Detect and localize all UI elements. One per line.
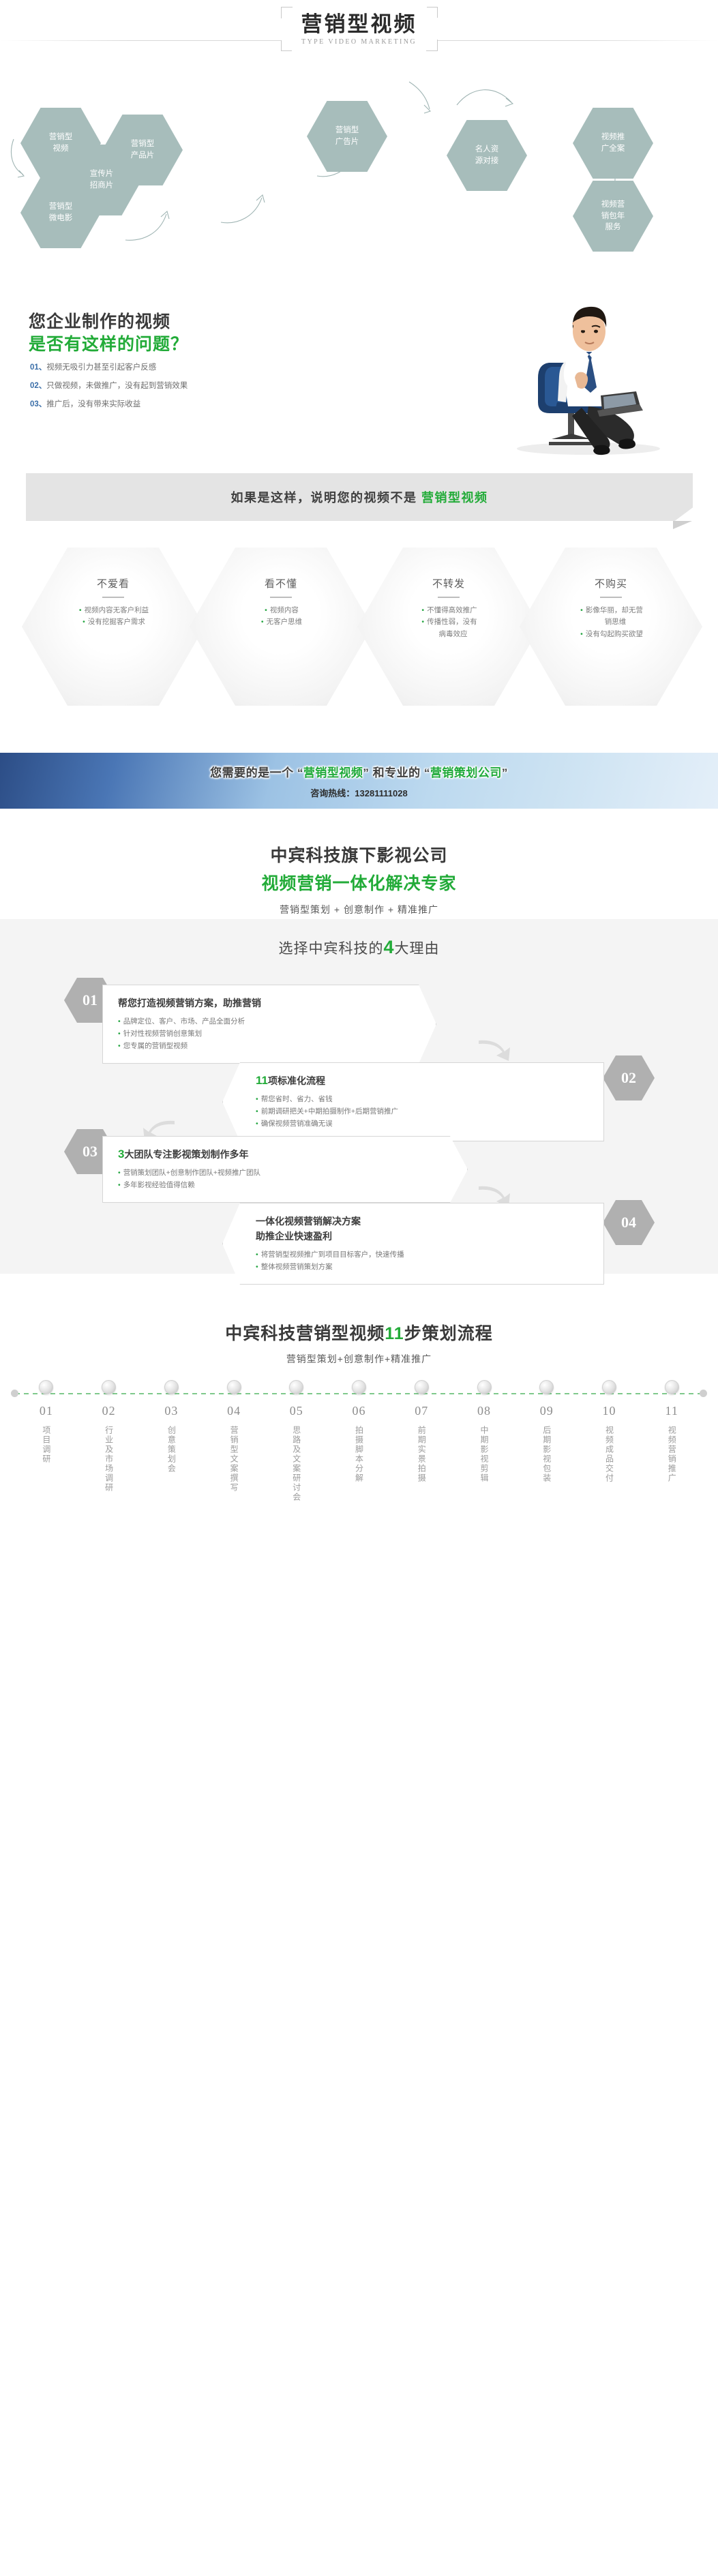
bullet-dot-icon: • xyxy=(421,618,424,626)
hex-service-0-line2: 视频 xyxy=(49,143,73,155)
step-09-label: 后期影视包装 xyxy=(541,1426,553,1483)
company-name: 中宾科技旗下影视公司 xyxy=(0,842,718,867)
cta-banner-section: 您需要的是一个 “营销型视频” 和专业的 “营销策划公司” 咨询热线：13281… xyxy=(0,745,718,830)
hex-service-7-line3: 服务 xyxy=(601,222,625,233)
reason-card-02-bullet-2: 确保视频营销准确无误 xyxy=(261,1120,333,1128)
cta-part1: 您需要的是一个 “ xyxy=(210,766,303,779)
step-10-num: 10 xyxy=(602,1404,616,1418)
hotline-text[interactable]: 咨询热线：13281111028 xyxy=(310,786,407,799)
bullet-dot-icon: • xyxy=(256,1263,258,1271)
steps-list: 01项目调研 02行业及市场调研 03创意策划会 04营销型文案撰写 05思路及… xyxy=(15,1380,703,1502)
step-item-09[interactable]: 09后期影视包装 xyxy=(515,1380,578,1502)
cta-emphasis-1: 营销型视频 xyxy=(303,766,363,779)
symptom-hex-3-bullet: •没有勾起购买欲望 xyxy=(579,629,643,640)
bullet-dot-icon: • xyxy=(256,1250,258,1259)
reason-card-01-bullet: •品牌定位、客户、市场、产品全面分析 xyxy=(118,1015,403,1028)
corner-top-right xyxy=(427,7,438,18)
bullet-dot-icon: • xyxy=(79,606,82,614)
symptom-hex-2-bullet-2: 病毒效应 xyxy=(439,630,468,638)
symptom-hex-1-bullet-1: 无客户思维 xyxy=(267,618,303,626)
reason-card-01-head: 帮您打造视频营销方案，助推营销 xyxy=(118,996,403,1010)
reason-card-03-head: 3大团队专注影视策划制作多年 xyxy=(118,1148,434,1161)
flow-arrow-2 xyxy=(124,206,179,244)
company-services: 营销型策划 + 创意制作 + 精准推广 xyxy=(0,903,718,916)
hex-service-6[interactable]: 视频推 广全案 xyxy=(573,108,653,179)
step-01-label: 项目调研 xyxy=(40,1426,53,1464)
step-dot-icon xyxy=(539,1380,554,1394)
hex-service-2-line2: 微电影 xyxy=(49,213,73,224)
step-06-num: 06 xyxy=(353,1404,366,1418)
reason-card-04-bullet: •整体视频营销策划方案 xyxy=(256,1261,588,1273)
ribbon-text-emphasis: 营销型视频 xyxy=(421,491,488,505)
flow-arrow-6 xyxy=(455,80,518,115)
bullet-dot-icon: • xyxy=(118,1181,121,1189)
step-dot-icon xyxy=(665,1380,679,1394)
hex-service-7-line1: 视频营 xyxy=(601,199,625,211)
step-item-05[interactable]: 05思路及文案研讨会 xyxy=(265,1380,328,1502)
reason-card-03-head-text: 大团队专注影视策划制作多年 xyxy=(124,1149,248,1160)
step-item-04[interactable]: 04营销型文案撰写 xyxy=(203,1380,265,1502)
hex-service-7[interactable]: 视频营 销包年 服务 xyxy=(573,181,653,252)
hex-service-4[interactable]: 营销型 广告片 xyxy=(307,101,387,172)
symptom-hex-2-bullet: •传播性弱，没有 xyxy=(420,616,477,628)
reason-card-01-bullet: •您专属的营销型视频 xyxy=(118,1040,403,1052)
reason-card-02-bullet: •帮您省时、省力、省钱 xyxy=(256,1093,588,1105)
step-dot-icon xyxy=(102,1380,116,1394)
symptom-hex-2-bullet-0: 不懂得高效推广 xyxy=(427,606,477,614)
step-11-label: 视频营销推广 xyxy=(665,1426,678,1483)
hex-service-1-line1: 宣传片 xyxy=(90,168,114,180)
symptom-hex-3-bullet-1: 销思维 xyxy=(605,618,627,626)
reason-card-02[interactable]: 11项标准化流程 •帮您省时、省力、省钱 •前期调研把关+中期拍摄制作+后期营销… xyxy=(222,1062,604,1141)
company-intro-section: 中宾科技旗下影视公司 视频营销一体化解决专家 营销型策划 + 创意制作 + 精准… xyxy=(0,830,718,919)
bullet-dot-icon: • xyxy=(256,1120,258,1128)
symptom-hex-2-bullet: •不懂得高效推广 xyxy=(420,605,477,616)
reason-card-01-bullet: •针对性视频营销创意策划 xyxy=(118,1028,403,1040)
reason-card-01-bullet-1: 针对性视频营销创意策划 xyxy=(123,1030,203,1038)
symptom-hex-3-bullet-0: 影像华丽，却无营 xyxy=(586,606,643,614)
step-03-label: 创意策划会 xyxy=(165,1426,177,1473)
reason-card-01[interactable]: 帮您打造视频营销方案，助推营销 •品牌定位、客户、市场、产品全面分析 •针对性视… xyxy=(102,985,436,1064)
reason-card-02-head-em: 11 xyxy=(256,1074,268,1087)
reason-card-03-bullet: •营销策划团队+创意制作团队+视频推广团队 xyxy=(118,1167,434,1179)
step-04-num: 04 xyxy=(227,1404,241,1418)
step-item-08[interactable]: 08中期影视剪辑 xyxy=(453,1380,515,1502)
reason-card-03-bullet: •多年影视经验值得信赖 xyxy=(118,1179,434,1191)
ribbon-fold-shadow xyxy=(673,521,692,529)
problem-item-0-text: 视频无吸引力甚至引起客户反感 xyxy=(46,363,156,372)
hex-service-0-line1: 营销型 xyxy=(49,132,73,143)
step-01-num: 01 xyxy=(40,1404,53,1418)
hex-service-4-line2: 广告片 xyxy=(335,136,359,148)
step-11-num: 11 xyxy=(665,1404,678,1418)
hex-service-5-line2: 源对接 xyxy=(475,155,499,167)
bullet-dot-icon: • xyxy=(256,1095,258,1103)
step-05-num: 05 xyxy=(290,1404,303,1418)
hex-service-7-line2: 销包年 xyxy=(601,211,625,222)
reason-card-04[interactable]: 一体化视频营销解决方案 助推企业快速盈利 •将营销型视频推广到项目目标客户，快速… xyxy=(222,1203,604,1285)
problem-item-2-text: 推广后，没有带来实际收益 xyxy=(46,400,140,408)
bullet-dot-icon: • xyxy=(118,1169,121,1177)
ribbon-section: 如果是这样，说明您的视频不是 营销型视频 xyxy=(0,462,718,541)
symptom-hex-3-bullet: •影像华丽，却无营 xyxy=(579,605,643,616)
bullet-dot-icon: • xyxy=(256,1107,258,1115)
page-subtitle-en: TYPE VIDEO MARKETING xyxy=(301,38,417,46)
step-dot-icon xyxy=(477,1380,492,1394)
symptom-hex-0-bullet-0: 视频内容无客户利益 xyxy=(85,606,149,614)
problem-item-0-num: 01、 xyxy=(30,363,46,372)
problem-item-1-text: 只做视频，未做推广，没有起到营销效果 xyxy=(46,382,188,390)
step-dot-icon xyxy=(39,1380,53,1394)
step-item-11[interactable]: 11视频营销推广 xyxy=(640,1380,703,1502)
step-item-02[interactable]: 02行业及市场调研 xyxy=(78,1380,140,1502)
hex-service-5[interactable]: 名人资 源对接 xyxy=(447,120,527,191)
bullet-dot-icon: • xyxy=(83,618,85,626)
bullet-dot-icon: • xyxy=(265,606,267,614)
step-dot-icon xyxy=(164,1380,179,1394)
hex-service-6-line2: 广全案 xyxy=(601,143,625,155)
reason-card-02-bullet-0: 帮您省时、省力、省钱 xyxy=(261,1095,333,1103)
ribbon-text-before: 如果是这样，说明您的视频不是 xyxy=(231,491,422,505)
step-02-label: 行业及市场调研 xyxy=(103,1426,115,1493)
step-dot-icon xyxy=(289,1380,303,1394)
hex-service-2-line1: 营销型 xyxy=(49,201,73,213)
problem-heading-line2: 是否有这样的问题？ xyxy=(29,331,188,355)
reason-card-04-bullet-1: 整体视频营销策划方案 xyxy=(261,1263,333,1271)
symptom-hex-0-divider xyxy=(102,597,124,598)
symptom-hex-3-bullet-2: 没有勾起购买欲望 xyxy=(586,630,643,638)
hex-service-5-line1: 名人资 xyxy=(475,144,499,155)
corner-bottom-left xyxy=(281,40,292,51)
bullet-dot-icon: • xyxy=(118,1030,121,1038)
step-dot-icon xyxy=(227,1380,241,1394)
reason-card-02-bullet: •确保视频营销准确无误 xyxy=(256,1118,588,1130)
reason-card-04-bullet-0: 将营销型视频推广到项目目标客户，快速传播 xyxy=(261,1250,404,1259)
reason-arrow-1 xyxy=(477,1036,513,1064)
businessman-photo xyxy=(486,286,691,457)
symptom-hex-0-bullet: •视频内容无客户利益 xyxy=(78,605,149,616)
marketing-video-landing-page: 营销型视频 TYPE VIDEO MARKETING xyxy=(0,0,718,1586)
symptom-hex-1-divider xyxy=(270,597,292,598)
reason-card-01-head-text: 帮您打造视频营销方案，助推营销 xyxy=(118,998,261,1008)
reason-card-03-bullet-1: 多年影视经验值得信赖 xyxy=(123,1181,195,1189)
reason-badge-02: 02 xyxy=(603,1055,655,1100)
problem-intro-section: 您企业制作的视频 是否有这样的问题？ 01、视频无吸引力甚至引起客户反感 02、… xyxy=(0,293,718,450)
reason-card-02-bullet-1: 前期调研把关+中期拍摄制作+后期营销推广 xyxy=(261,1107,398,1115)
symptom-hex-2[interactable]: 不转发 •不懂得高效推广 •传播性弱，没有 病毒效应 xyxy=(357,548,540,706)
reason-card-03-bullet-0: 营销策划团队+创意制作团队+视频推广团队 xyxy=(123,1169,260,1177)
problem-list-item: 02、只做视频，未做推广，没有起到营销效果 xyxy=(30,380,188,391)
symptom-hex-3-bullet: 销思维 xyxy=(596,616,627,628)
step-07-label: 前期实景拍摄 xyxy=(415,1426,428,1483)
symptom-hex-3[interactable]: 不购买 •影像华丽，却无营 销思维 •没有勾起购买欲望 xyxy=(520,548,702,706)
step-08-label: 中期影视剪辑 xyxy=(478,1426,490,1483)
process-steps-section: 中宾科技营销型视频11步策划流程 营销型策划+创意制作+精准推广 01项目调研 … xyxy=(0,1300,718,1586)
step-03-num: 03 xyxy=(164,1404,178,1418)
steps-subtitle: 营销型策划+创意制作+精准推广 xyxy=(0,1352,718,1366)
symptom-hex-2-divider xyxy=(438,597,460,598)
reasons-title: 选择中宾科技的4大理由 xyxy=(0,919,718,958)
step-10-label: 视频成品交付 xyxy=(603,1426,615,1483)
hex-service-3-line1: 营销型 xyxy=(131,138,155,150)
steps-title-after: 步策划流程 xyxy=(404,1324,493,1343)
symptom-hex-3-title: 不购买 xyxy=(595,576,627,590)
symptom-hex-1-bullet-0: 视频内容 xyxy=(270,606,299,614)
hex-service-1-line2: 招商片 xyxy=(90,180,114,192)
flow-arrow-3 xyxy=(220,191,274,229)
reason-card-01-bullet-2: 您专属的营销型视频 xyxy=(123,1042,188,1050)
reason-card-02-head: 11项标准化流程 xyxy=(256,1074,588,1088)
steps-title-number: 11 xyxy=(385,1324,404,1343)
cta-banner: 您需要的是一个 “营销型视频” 和专业的 “营销策划公司” 咨询热线：13281… xyxy=(0,753,718,809)
symptom-hex-2-bullet: 病毒效应 xyxy=(430,629,468,640)
reason-card-04-bullet: •将营销型视频推广到项目目标客户，快速传播 xyxy=(256,1248,588,1261)
step-07-num: 07 xyxy=(415,1404,428,1418)
reason-card-02-bullet: •前期调研把关+中期拍摄制作+后期营销推广 xyxy=(256,1105,588,1118)
page-title: 营销型视频 xyxy=(301,12,417,37)
step-item-03[interactable]: 03创意策划会 xyxy=(140,1380,203,1502)
step-08-num: 08 xyxy=(477,1404,491,1418)
symptom-hex-1-bullet: •视频内容 xyxy=(263,605,299,616)
step-item-01[interactable]: 01项目调研 xyxy=(15,1380,78,1502)
reason-card-04-head2: 助推企业快速盈利 xyxy=(256,1229,588,1243)
reasons-title-number: 4 xyxy=(383,937,394,957)
symptom-hex-row: 不爱看 •视频内容无客户利益 •没有挖掘客户需求 看不懂 •视频内容 •无客户思… xyxy=(0,541,718,718)
hex-service-6-line1: 视频推 xyxy=(601,132,625,143)
bullet-dot-icon: • xyxy=(261,618,264,626)
service-hex-cluster: 营销型 视频 宣传片 招商片 营销型 微电影 营销型 产品片 营销型 xyxy=(0,82,718,256)
hex-service-3-line2: 产品片 xyxy=(131,150,155,162)
title-frame: 营销型视频 TYPE VIDEO MARKETING xyxy=(281,7,438,51)
ribbon-text: 如果是这样，说明您的视频不是 营销型视频 xyxy=(231,488,488,506)
step-dot-icon xyxy=(352,1380,366,1394)
step-02-num: 02 xyxy=(102,1404,116,1418)
step-item-06[interactable]: 06拍摄脚本分解 xyxy=(328,1380,391,1502)
symptom-hex-0-bullet-1: 没有挖掘客户需求 xyxy=(88,618,145,626)
problem-item-2-num: 03、 xyxy=(30,400,46,408)
step-item-10[interactable]: 10视频成品交付 xyxy=(578,1380,641,1502)
reason-card-04-head: 一体化视频营销解决方案 xyxy=(256,1214,588,1228)
symptom-hex-1-title: 看不懂 xyxy=(265,576,297,590)
symptom-hex-2-bullet-1: 传播性弱，没有 xyxy=(427,618,477,626)
problem-list-item: 03、推广后，没有带来实际收益 xyxy=(30,398,188,409)
bullet-dot-icon: • xyxy=(118,1042,121,1050)
cta-part2: ” 和专业的 “ xyxy=(363,766,430,779)
symptom-hex-1[interactable]: 看不懂 •视频内容 •无客户思维 xyxy=(190,548,372,706)
problem-list-item: 01、视频无吸引力甚至引起客户反感 xyxy=(30,361,188,372)
flow-arrow-5 xyxy=(406,79,446,119)
symptom-hex-2-title: 不转发 xyxy=(432,576,465,590)
company-slogan: 视频营销一体化解决专家 xyxy=(0,870,718,895)
steps-title: 中宾科技营销型视频11步策划流程 xyxy=(0,1300,718,1345)
cta-part3: ” xyxy=(502,766,508,779)
problem-list: 01、视频无吸引力甚至引起客户反感 02、只做视频，未做推广，没有起到营销效果 … xyxy=(30,361,188,417)
step-item-07[interactable]: 07前期实景拍摄 xyxy=(390,1380,453,1502)
reason-badge-04: 04 xyxy=(603,1200,655,1245)
problem-heading-line1: 您企业制作的视频 xyxy=(29,308,170,333)
reason-card-01-bullet-0: 品牌定位、客户、市场、产品全面分析 xyxy=(123,1017,245,1025)
hex-service-4-line1: 营销型 xyxy=(335,125,359,136)
page-header: 营销型视频 TYPE VIDEO MARKETING xyxy=(0,0,718,82)
reason-card-02-head-text: 项标准化流程 xyxy=(268,1075,325,1086)
bullet-dot-icon: • xyxy=(421,606,424,614)
step-06-label: 拍摄脚本分解 xyxy=(353,1426,365,1483)
symptom-hex-0[interactable]: 不爱看 •视频内容无客户利益 •没有挖掘客户需求 xyxy=(22,548,205,706)
problem-item-1-num: 02、 xyxy=(30,382,46,390)
symptom-hex-1-bullet: •无客户思维 xyxy=(260,616,302,628)
reason-card-03[interactable]: 3大团队专注影视策划制作多年 •营销策划团队+创意制作团队+视频推广团队 •多年… xyxy=(102,1136,468,1203)
reasons-title-after: 大理由 xyxy=(395,941,440,957)
symptom-hex-0-bullet: •没有挖掘客户需求 xyxy=(81,616,145,628)
step-dot-icon xyxy=(415,1380,429,1394)
ribbon-banner: 如果是这样，说明您的视频不是 营销型视频 xyxy=(26,473,693,521)
bullet-dot-icon: • xyxy=(580,630,583,638)
cta-headline: 您需要的是一个 “营销型视频” 和专业的 “营销策划公司” xyxy=(210,763,508,780)
step-dot-icon xyxy=(602,1380,616,1394)
step-05-label: 思路及文案研讨会 xyxy=(290,1426,303,1502)
symptom-hex-3-divider xyxy=(600,597,622,598)
step-04-label: 营销型文案撰写 xyxy=(228,1426,240,1493)
reasons-title-before: 选择中宾科技的 xyxy=(278,941,383,957)
symptom-hex-0-title: 不爱看 xyxy=(97,576,130,590)
bullet-dot-icon: • xyxy=(580,606,583,614)
reasons-section: 选择中宾科技的4大理由 01 帮您打造视频营销方案，助推营销 •品牌定位、客户、… xyxy=(0,919,718,1274)
step-09-num: 09 xyxy=(540,1404,554,1418)
cta-emphasis-2: 营销策划公司 xyxy=(430,766,502,779)
bullet-dot-icon: • xyxy=(118,1017,121,1025)
steps-title-before: 中宾科技营销型视频 xyxy=(225,1324,385,1343)
